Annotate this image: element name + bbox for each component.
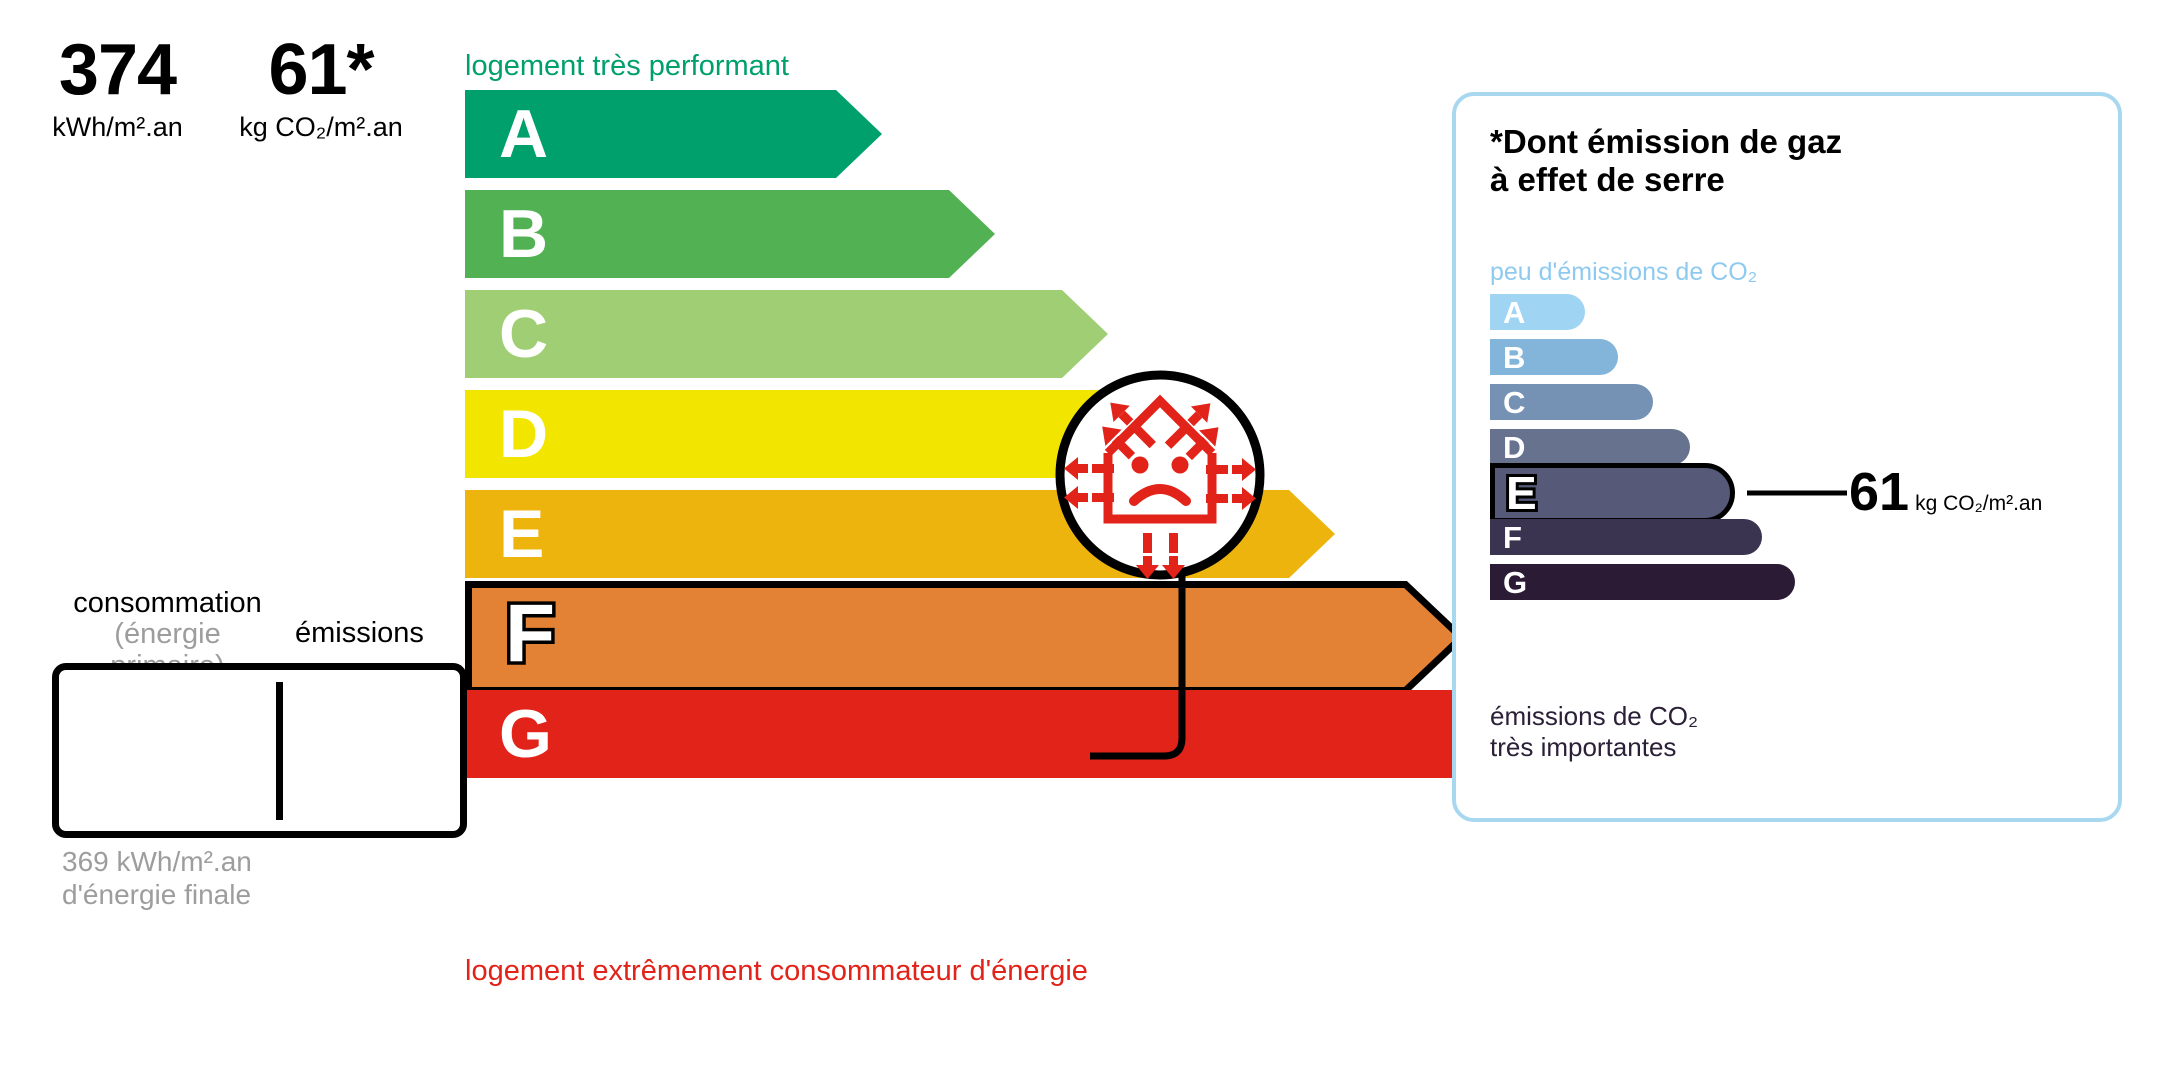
co2-class-row-f: F [1490,519,1762,555]
energy-class-letter-a: A [499,90,548,178]
value-box [52,663,467,838]
co2-class-letter-f: F [1503,519,1522,555]
energy-class-letter-b: B [499,190,548,278]
energy-class-letter-f: F [505,581,555,687]
co2-class-row-e: E [1490,463,1735,523]
co2-class-row-d: D [1490,429,1690,465]
consumption-value-group: 374 kWh/m².an [10,0,225,175]
co2-class-row-a: A [1490,294,1585,330]
energy-class-letter-d: D [499,390,548,478]
final-energy-note: 369 kWh/m².an d'énergie finale [62,845,252,911]
emissions-value-group: 61* kg CO₂/m².an [235,0,407,175]
co2-title-line1: *Dont émission de gaz [1490,123,1842,161]
co2-panel-title: *Dont émission de gaz à effet de serre [1490,123,1842,200]
co2-class-row-b: B [1490,339,1618,375]
co2-value-group: 61kg CO₂/m².an [1849,465,2042,519]
energy-bottom-caption: logement extrêmement consommateur d'éner… [465,955,1088,988]
emissions-label: émissions [295,618,424,649]
co2-class-letter-c: C [1503,384,1525,420]
co2-class-row-g: G [1490,564,1795,600]
final-energy-value: 369 kWh/m².an [62,845,252,878]
co2-bottom-caption-line1: émissions de CO₂ [1490,701,1698,732]
heat-loss-house-icon [1050,365,1270,585]
co2-top-caption: peu d'émissions de CO₂ [1490,258,1757,287]
co2-class-letter-e: E [1506,463,1537,523]
co2-title-line2: à effet de serre [1490,161,1842,199]
co2-value-unit: kg CO₂/m².an [1915,492,2042,515]
co2-emissions-panel: *Dont émission de gaz à effet de serre p… [1452,92,2122,822]
co2-value-number: 61 [1849,462,1909,522]
badge-connector-line [1090,560,1270,780]
consumption-label-main: consommation [73,587,262,619]
energy-class-row-g: G [465,690,1562,778]
emissions-unit: kg CO₂/m².an [239,114,403,141]
co2-bar-f [1490,519,1762,555]
energy-class-row-c: C [465,290,1108,378]
energy-arrow-g [465,690,1562,778]
energy-arrow-c [465,290,1108,378]
co2-class-letter-g: G [1503,564,1527,600]
consumption-unit: kWh/m².an [52,114,183,141]
final-energy-caption: d'énergie finale [62,878,252,911]
energy-class-letter-g: G [499,690,552,778]
co2-bottom-caption-line2: très importantes [1490,732,1698,763]
co2-class-letter-d: D [1503,429,1525,465]
energy-class-letter-e: E [499,490,544,578]
emissions-value: 61* [268,34,373,106]
value-box-divider [276,682,283,820]
energy-arrow-f [465,581,1465,687]
co2-bar-g [1490,564,1795,600]
energy-top-caption: logement très performant [465,50,789,83]
co2-class-letter-a: A [1503,294,1525,330]
co2-bottom-caption: émissions de CO₂ très importantes [1490,701,1698,762]
energy-class-row-f: F [465,581,1448,669]
co2-class-letter-b: B [1503,339,1525,375]
dpe-diagram: logement très performant ABCDEFG logemen… [0,0,2169,1079]
energy-class-row-a: A [465,90,882,178]
energy-class-letter-c: C [499,290,548,378]
consumption-value: 374 [59,34,176,106]
energy-class-row-b: B [465,190,995,278]
co2-class-row-c: C [1490,384,1653,420]
energy-performance-panel: logement très performant ABCDEFG logemen… [0,0,1420,1079]
